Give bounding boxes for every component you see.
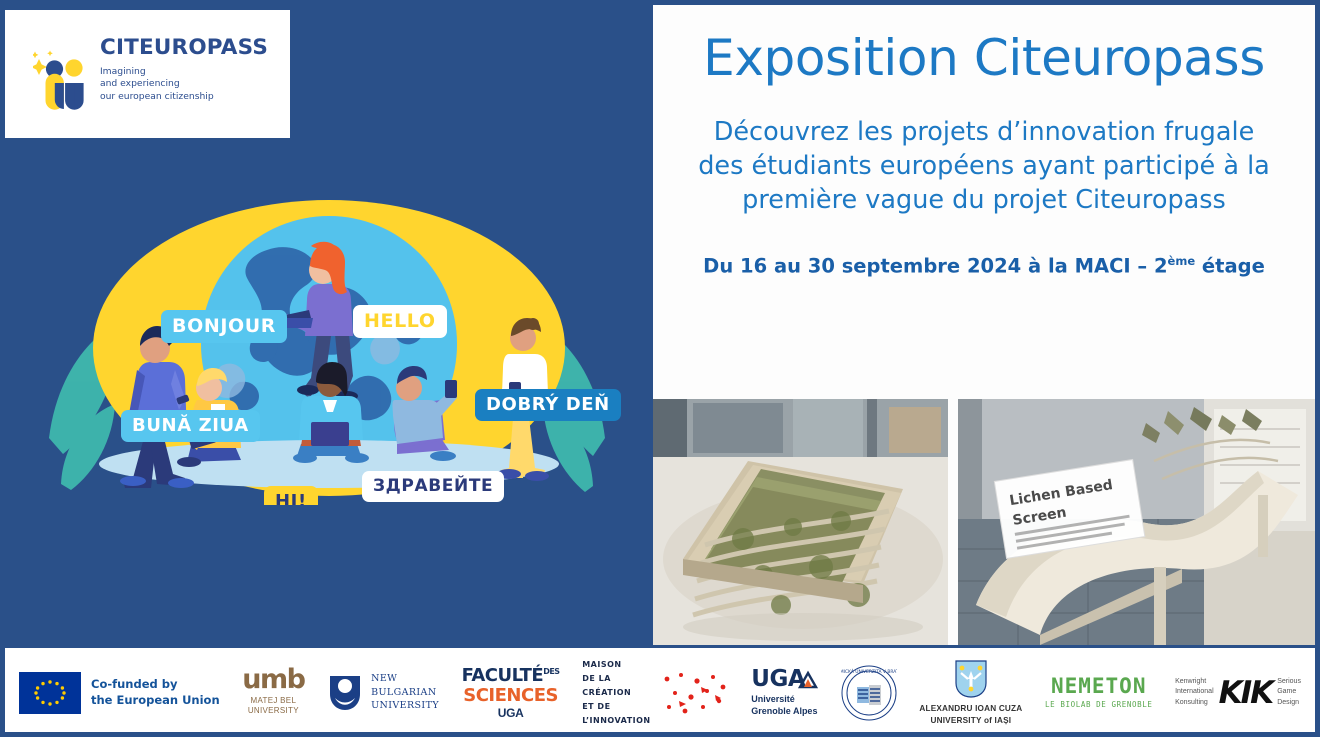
- euba-seal-text: EKONOMICKÁ UNIVERZITA V BRATISLAVE: [841, 668, 897, 675]
- speech-bubble-zdraveyte: ЗДРАВЕЙТЕ: [362, 471, 504, 502]
- umb-sub-line2: UNIVERSITY: [248, 706, 299, 716]
- speech-bubble-dobry-den: DOBRÝ DEŇ: [475, 389, 621, 421]
- brand-tagline-line1: Imagining: [100, 66, 268, 79]
- photo-gap: [948, 399, 958, 645]
- maci-text: MAISON DE LA CRÉATION ET DE L’INNOVATION: [582, 658, 650, 728]
- maci-line2: DE LA: [582, 672, 650, 686]
- citeuropass-logo-card: CITEUROPASS Imagining and experiencing o…: [5, 10, 290, 138]
- brand-tagline: Imagining and experiencing our european …: [100, 66, 268, 104]
- kik-left-line3: Konsulting: [1175, 698, 1214, 709]
- uga-triangle-icon: [798, 669, 818, 689]
- subtitle-line-3: première vague du projet Citeuropass: [669, 184, 1299, 218]
- maci-line3: CRÉATION: [582, 686, 650, 700]
- fac-line2: SCIENCES: [463, 687, 558, 705]
- eu-funding-line1: Co-funded by: [91, 677, 220, 692]
- kik-left-line1: Kenwright: [1175, 677, 1214, 688]
- logo-universite-grenoble-alpes: UGA Université Grenoble Alpes: [751, 668, 818, 717]
- nbu-text: NEW BULGARIAN UNIVERSITY: [371, 672, 439, 713]
- brand-name: CITEUROPASS: [100, 37, 268, 60]
- fac-line3: UGA: [498, 707, 524, 719]
- eu-flag-icon: [19, 672, 81, 714]
- partner-logos-footer: Co-funded by the European Union umb MATE…: [5, 648, 1315, 737]
- speech-bubble-hello: HELLO: [353, 305, 447, 338]
- subtitle-line-1: Découvrez les projets d’innovation fruga…: [669, 116, 1299, 150]
- logo-maison-creation-innovation: MAISON DE LA CRÉATION ET DE L’INNOVATION: [582, 658, 728, 728]
- nbu-shield-icon: [327, 672, 363, 712]
- uaic-line1: ALEXANDRU IOAN CUZA: [919, 703, 1022, 714]
- uga-letters: UGA: [751, 668, 805, 691]
- logo-european-union: Co-funded by the European Union: [19, 672, 220, 714]
- logo-kik-serious-game-design: Kenwright International Konsulting KIK S…: [1175, 675, 1301, 711]
- subtitle-line-2: des étudiants européens ayant participé …: [669, 150, 1299, 184]
- kik-right-line3: Design: [1277, 698, 1301, 709]
- nbu-line3: UNIVERSITY: [371, 699, 439, 713]
- logo-new-bulgarian-university: NEW BULGARIAN UNIVERSITY: [327, 672, 439, 713]
- photo-strip: Lichen Based Screen: [653, 399, 1315, 645]
- photo-lichen-screen: Lichen Based Screen: [958, 399, 1315, 645]
- europe-illustration: BONJOUR HELLO BUNĂ ZIUA DOBRÝ DEŇ ЗДРАВЕ…: [5, 138, 653, 505]
- maci-sparks-icon: [657, 669, 729, 717]
- right-column: Exposition Citeuropass Découvrez les pro…: [653, 5, 1315, 645]
- logo-faculte-des-sciences-uga: FACULTÉDES SCIENCES UGA: [462, 667, 560, 719]
- maci-line4: ET DE: [582, 700, 650, 714]
- uaic-crest-icon: [954, 659, 988, 699]
- uga-wordmark: UGA: [751, 668, 818, 691]
- kik-left-text: Kenwright International Konsulting: [1175, 677, 1214, 709]
- uga-subtitle: Université Grenoble Alpes: [751, 694, 817, 717]
- nemeton-subtitle: LE BIOLAB DE GRENOBLE: [1045, 700, 1152, 709]
- umb-subtitle: MATEJ BEL UNIVERSITY: [248, 696, 299, 717]
- page-title: Exposition Citeuropass: [669, 31, 1299, 86]
- subtitle: Découvrez les projets d’innovation fruga…: [669, 116, 1299, 218]
- kik-right-text: Serious Game Design: [1277, 677, 1301, 709]
- uaic-line2: UNIVERSITY of IAȘI: [919, 715, 1022, 726]
- logo-nemeton: NEMETON LE BIOLAB DE GRENOBLE: [1045, 676, 1152, 709]
- kik-wordmark: KIK: [1219, 675, 1273, 711]
- uga-sub-line1: Université: [751, 694, 817, 706]
- nemeton-wordmark: NEMETON: [1051, 676, 1147, 697]
- dateline-ordinal: ème: [1168, 254, 1196, 268]
- kik-right-line2: Game: [1277, 687, 1301, 698]
- umb-sub-line1: MATEJ BEL: [248, 696, 299, 706]
- illustration-graphic: [5, 138, 653, 505]
- nbu-line1: NEW: [371, 672, 439, 686]
- euba-seal-icon: EKONOMICKÁ UNIVERZITA V BRATISLAVE: [841, 665, 897, 721]
- photo-moss-panel: [653, 399, 948, 645]
- maci-line1: MAISON: [582, 658, 650, 672]
- speech-bubble-bonjour: BONJOUR: [161, 310, 287, 343]
- left-column: CITEUROPASS Imagining and experiencing o…: [5, 5, 653, 645]
- logo-alexandru-ioan-cuza-university: ALEXANDRU IOAN CUZA UNIVERSITY of IAȘI: [919, 659, 1022, 726]
- uaic-text: ALEXANDRU IOAN CUZA UNIVERSITY of IAȘI: [919, 703, 1022, 726]
- logo-matej-bel-university: umb MATEJ BEL UNIVERSITY: [242, 668, 304, 716]
- logo-ekonomicka-univerzita-bratislava: EKONOMICKÁ UNIVERZITA V BRATISLAVE: [841, 665, 897, 721]
- kik-right-line1: Serious: [1277, 677, 1301, 688]
- fac-line1-wrap: FACULTÉDES: [462, 667, 560, 685]
- dateline-prefix: Du 16 au 30 septembre 2024 à la MACI – 2: [703, 254, 1167, 277]
- brand-tagline-line3: our european citizenship: [100, 91, 268, 104]
- fac-line1: FACULTÉ: [462, 665, 544, 686]
- event-dateline: Du 16 au 30 septembre 2024 à la MACI – 2…: [669, 254, 1299, 278]
- speech-bubble-hi: HI!: [264, 486, 318, 505]
- text-block: Exposition Citeuropass Découvrez les pro…: [653, 5, 1315, 277]
- maci-line5: L’INNOVATION: [582, 714, 650, 728]
- fac-des: DES: [543, 667, 559, 676]
- kik-left-line2: International: [1175, 687, 1214, 698]
- eu-funding-text: Co-funded by the European Union: [91, 677, 220, 707]
- brand-tagline-line2: and experiencing: [100, 78, 268, 91]
- citeuropass-logo-icon: [33, 49, 91, 111]
- speech-bubble-buna-ziua: BUNĂ ZIUA: [121, 410, 260, 442]
- poster: CITEUROPASS Imagining and experiencing o…: [0, 0, 1320, 737]
- umb-wordmark: umb: [242, 668, 304, 692]
- nbu-line2: BULGARIAN: [371, 686, 439, 700]
- dateline-suffix: étage: [1195, 254, 1265, 277]
- uga-sub-line2: Grenoble Alpes: [751, 706, 817, 718]
- eu-funding-line2: the European Union: [91, 693, 220, 708]
